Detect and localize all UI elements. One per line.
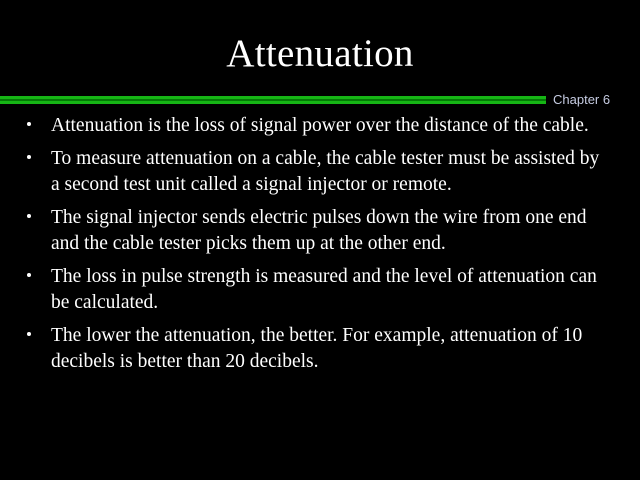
list-item-text: The lower the attenuation, the better. F…: [51, 323, 608, 375]
bullet-dot-icon: [27, 214, 31, 218]
list-item-text: The loss in pulse strength is measured a…: [51, 264, 608, 316]
list-item: The signal injector sends electric pulse…: [0, 205, 640, 257]
list-item-text: The signal injector sends electric pulse…: [51, 205, 608, 257]
bullet-dot-icon: [27, 155, 31, 159]
list-item-text: Attenuation is the loss of signal power …: [51, 113, 608, 139]
slide-title-area: Attenuation: [0, 0, 640, 92]
list-item: Attenuation is the loss of signal power …: [0, 113, 640, 139]
list-item-text: To measure attenuation on a cable, the c…: [51, 146, 608, 198]
presentation-slide: Attenuation Chapter 6 Attenuation is the…: [0, 0, 640, 480]
slide-body: Attenuation is the loss of signal power …: [0, 113, 640, 382]
bullet-dot-icon: [27, 122, 31, 126]
list-item: The loss in pulse strength is measured a…: [0, 264, 640, 316]
list-item: The lower the attenuation, the better. F…: [0, 323, 640, 375]
page-title: Attenuation: [0, 31, 640, 77]
list-item: To measure attenuation on a cable, the c…: [0, 146, 640, 198]
chapter-label: Chapter 6: [553, 92, 610, 108]
title-divider-rule: [0, 96, 546, 105]
rule-line-bottom: [0, 101, 546, 104]
bullet-dot-icon: [27, 332, 31, 336]
bullet-dot-icon: [27, 273, 31, 277]
